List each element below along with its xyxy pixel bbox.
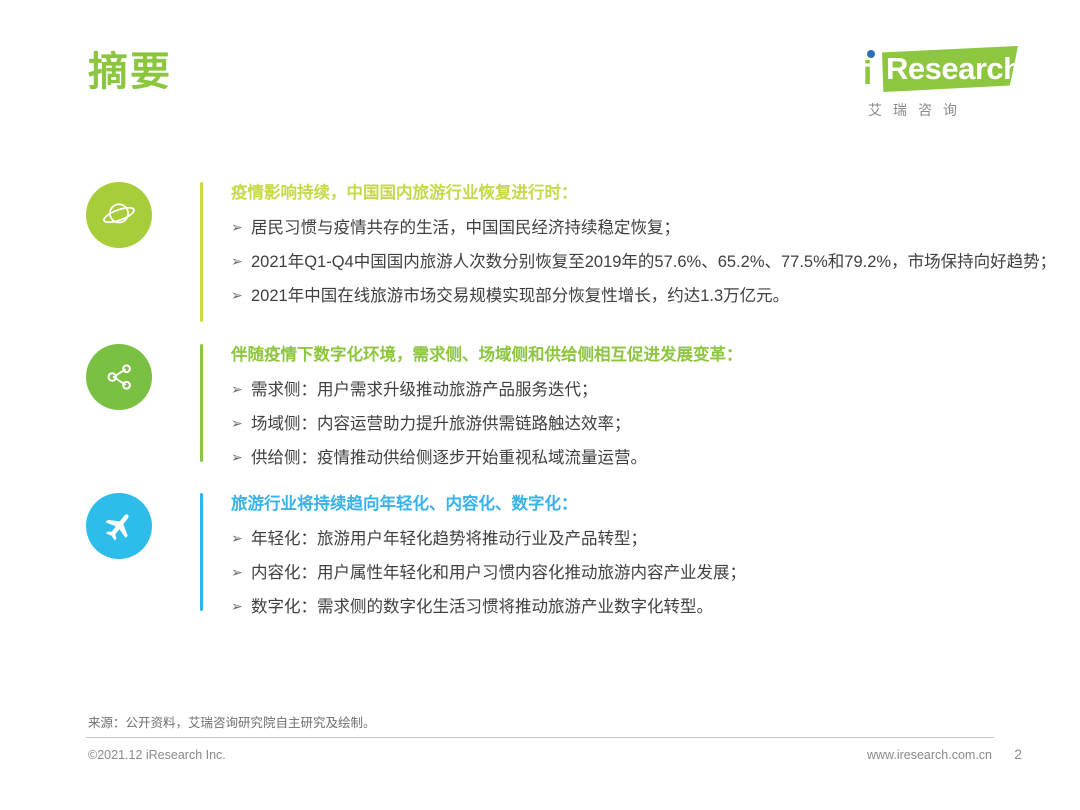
list-item: ➢ 数字化：需求侧的数字化生活习惯将推动旅游产业数字化转型。 (231, 594, 1080, 621)
arrow-bullet-icon: ➢ (231, 283, 251, 308)
text-column-3: 旅游行业将持续趋向年轻化、内容化、数字化： ➢ 年轻化：旅游用户年轻化趋势将推动… (203, 493, 1080, 620)
arrow-bullet-icon: ➢ (231, 526, 251, 551)
bullet-list-1: ➢ 居民习惯与疫情共存的生活，中国国民经济持续稳定恢复； ➢ 2021年Q1-Q… (231, 215, 1080, 309)
logo-subtitle: 艾瑞咨询 (868, 100, 968, 120)
list-item: ➢ 年轻化：旅游用户年轻化趋势将推动行业及产品转型； (231, 526, 1080, 553)
icon-column-2 (0, 344, 200, 410)
icon-column-1 (0, 182, 200, 248)
list-item: ➢ 居民习惯与疫情共存的生活，中国国民经济持续稳定恢复； (231, 215, 1080, 242)
bullet-list-2: ➢ 需求侧：用户需求升级推动旅游产品服务迭代； ➢ 场域侧：内容运营助力提升旅游… (231, 377, 1080, 471)
bullet-text: 需求侧：用户需求升级推动旅游产品服务迭代； (251, 377, 1080, 404)
arrow-bullet-icon: ➢ (231, 377, 251, 402)
logo-letter-i: i (863, 56, 872, 89)
website-link[interactable]: www.iresearch.com.cn (867, 748, 992, 762)
list-item: ➢ 供给侧：疫情推动供给侧逐步开始重视私域流量运营。 (231, 445, 1080, 472)
icon-column-3 (0, 493, 200, 559)
page-number: 2 (1014, 746, 1022, 762)
text-column-2: 伴随疫情下数字化环境，需求侧、场域侧和供给侧相互促进发展变革： ➢ 需求侧：用户… (203, 344, 1080, 471)
source-note: 来源：公开资料，艾瑞咨询研究院自主研究及绘制。 (88, 712, 376, 731)
planet-icon (86, 182, 152, 248)
iresearch-logo: i Research 艾瑞咨询 (858, 44, 1018, 126)
summary-blocks: 疫情影响持续，中国国内旅游行业恢复进行时： ➢ 居民习惯与疫情共存的生活，中国国… (0, 182, 1080, 621)
bullet-text: 供给侧：疫情推动供给侧逐步开始重视私域流量运营。 (251, 445, 1080, 472)
page-title: 摘要 (88, 52, 172, 92)
logo-mark: i Research (858, 44, 1018, 96)
bullet-text: 2021年中国在线旅游市场交易规模实现部分恢复性增长，约达1.3万亿元。 (251, 283, 1080, 310)
share-nodes-icon (86, 344, 152, 410)
text-column-1: 疫情影响持续，中国国内旅游行业恢复进行时： ➢ 居民习惯与疫情共存的生活，中国国… (203, 182, 1080, 309)
airplane-icon (86, 493, 152, 559)
bullet-text: 居民习惯与疫情共存的生活，中国国民经济持续稳定恢复； (251, 215, 1080, 242)
block-heading-1: 疫情影响持续，中国国内旅游行业恢复进行时： (231, 182, 1080, 205)
bullet-text: 场域侧：内容运营助力提升旅游供需链路触达效率； (251, 411, 1080, 438)
list-item: ➢ 2021年中国在线旅游市场交易规模实现部分恢复性增长，约达1.3万亿元。 (231, 283, 1080, 310)
list-item: ➢ 场域侧：内容运营助力提升旅游供需链路触达效率； (231, 411, 1080, 438)
list-item: ➢ 需求侧：用户需求升级推动旅游产品服务迭代； (231, 377, 1080, 404)
bullet-text: 数字化：需求侧的数字化生活习惯将推动旅游产业数字化转型。 (251, 594, 1080, 621)
summary-block-3: 旅游行业将持续趋向年轻化、内容化、数字化： ➢ 年轻化：旅游用户年轻化趋势将推动… (0, 493, 1080, 620)
arrow-bullet-icon: ➢ (231, 411, 251, 436)
list-item: ➢ 内容化：用户属性年轻化和用户习惯内容化推动旅游内容产业发展； (231, 560, 1080, 587)
logo-wordmark: Research (886, 53, 1022, 84)
summary-block-2: 伴随疫情下数字化环境，需求侧、场域侧和供给侧相互促进发展变革： ➢ 需求侧：用户… (0, 344, 1080, 471)
logo-dot-icon (867, 50, 875, 58)
bullet-list-3: ➢ 年轻化：旅游用户年轻化趋势将推动行业及产品转型； ➢ 内容化：用户属性年轻化… (231, 526, 1080, 620)
copyright-text: ©2021.12 iResearch Inc. (88, 748, 226, 762)
summary-block-1: 疫情影响持续，中国国内旅游行业恢复进行时： ➢ 居民习惯与疫情共存的生活，中国国… (0, 182, 1080, 322)
bullet-text: 内容化：用户属性年轻化和用户习惯内容化推动旅游内容产业发展； (251, 560, 1080, 587)
arrow-bullet-icon: ➢ (231, 560, 251, 585)
block-heading-2: 伴随疫情下数字化环境，需求侧、场域侧和供给侧相互促进发展变革： (231, 344, 1080, 367)
arrow-bullet-icon: ➢ (231, 594, 251, 619)
footer-divider (86, 737, 994, 738)
block-heading-3: 旅游行业将持续趋向年轻化、内容化、数字化： (231, 493, 1080, 516)
arrow-bullet-icon: ➢ (231, 445, 251, 470)
bullet-text: 2021年Q1-Q4中国国内旅游人次数分别恢复至2019年的57.6%、65.2… (251, 249, 1080, 276)
bullet-text: 年轻化：旅游用户年轻化趋势将推动行业及产品转型； (251, 526, 1080, 553)
arrow-bullet-icon: ➢ (231, 215, 251, 240)
list-item: ➢ 2021年Q1-Q4中国国内旅游人次数分别恢复至2019年的57.6%、65… (231, 249, 1080, 276)
slide-canvas: 摘要 i Research 艾瑞咨询 疫情影响持续，中国国内 (0, 0, 1080, 810)
arrow-bullet-icon: ➢ (231, 249, 251, 274)
